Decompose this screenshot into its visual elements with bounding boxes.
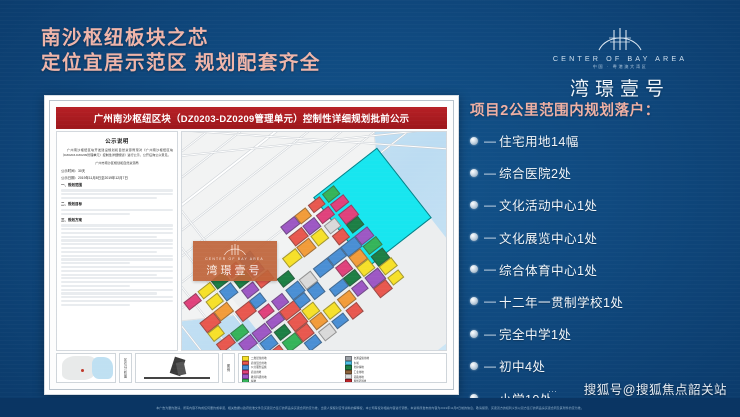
bullet-icon <box>470 330 478 338</box>
text-line <box>61 247 173 249</box>
map-brand-stamp: CENTER OF BAY AREA 湾璟壹号 <box>193 241 277 281</box>
headline-line-2: 定位宜居示范区 规划配套齐全 <box>41 51 321 76</box>
facility-label: 住宅用地14幅 <box>499 131 579 150</box>
text-line <box>61 296 173 298</box>
document-body: 公示说明 广州南沙枢纽区块开发建设规划和自然资源局现对《广州南沙枢纽区块（DZ0… <box>56 131 447 351</box>
legend-row: 绿地 <box>242 379 341 383</box>
brand-english-sub: 中国 · 粤港澳大湾区 <box>532 64 708 70</box>
notice-heading: 公示说明 <box>61 137 173 145</box>
brand-logo: CENTER OF BAY AREA 中国 · 粤港澳大湾区 湾璟壹号 <box>532 24 708 101</box>
watermark-dots: ··· <box>548 386 557 396</box>
brand-chinese: 湾璟壹号 <box>532 74 708 101</box>
headline-line-1: 南沙枢纽板块之芯 <box>41 26 321 51</box>
facility-label: 初中4处 <box>499 356 545 375</box>
scope-inset-map <box>135 353 219 383</box>
text-line <box>61 304 130 306</box>
text-line <box>61 239 173 241</box>
scale-bar <box>144 377 210 379</box>
facility-item: —初中4处 <box>470 356 732 375</box>
notice-duration-label: 公示时间： <box>61 169 78 173</box>
facility-label: 完全中学1处 <box>499 324 571 343</box>
legend-row: 规划范围线 <box>345 379 444 383</box>
inset-caption-1: 区位分析图 <box>119 353 132 383</box>
facility-dash: — <box>484 230 496 244</box>
facility-label: 综合体育中心1处 <box>499 260 597 279</box>
text-line <box>61 300 173 302</box>
text-line <box>61 258 173 260</box>
facility-dash: — <box>484 198 496 212</box>
facilities-heading: 项目2公里范围内规划落户： <box>470 99 732 120</box>
legend-label: 规划范围线 <box>354 379 367 383</box>
bullet-icon <box>470 169 478 177</box>
text-line <box>61 255 173 257</box>
notice-section-3: 三、规划方案 <box>61 218 173 223</box>
text-line <box>61 232 173 234</box>
text-line <box>61 236 157 238</box>
document-title-banner: 广州南沙枢纽区块（DZ0203-DZ0209管理单元）控制性详细规划批前公示 <box>56 107 447 129</box>
text-line <box>61 285 130 287</box>
document-inner-frame: 广州南沙枢纽区块（DZ0203-DZ0209管理单元）控制性详细规划批前公示 公… <box>49 100 454 390</box>
text-line <box>61 274 157 276</box>
notice-paragraph-2: 广州市南沙区规划和自然资源局 <box>61 161 173 166</box>
notice-date: 公示日期：2019年11月8日至2019年12月7日 <box>61 175 173 180</box>
facilities-panel: 项目2公里范围内规划落户： —住宅用地14幅—综合医院2处—文化活动中心1处—文… <box>470 99 732 417</box>
notice-section-2: 二、规划目标 <box>61 202 173 207</box>
text-line <box>61 292 157 294</box>
facility-dash: — <box>484 359 496 373</box>
legend-column: 二类居住用地商住混合用地公共服务设施商业用地教育科研用地绿地 <box>242 356 341 380</box>
bullet-icon <box>470 297 478 305</box>
legend-swatch <box>345 379 352 383</box>
text-line <box>61 289 173 291</box>
text-line <box>61 277 173 279</box>
bullet-icon <box>470 201 478 209</box>
planning-document-card[interactable]: 广州南沙枢纽区块（DZ0203-DZ0209管理单元）控制性详细规划批前公示 公… <box>44 95 459 395</box>
stamp-chinese: 湾璟壹号 <box>207 262 263 278</box>
location-inset-map <box>56 353 116 383</box>
facility-item: —文化活动中心1处 <box>470 195 732 214</box>
text-line <box>61 228 173 230</box>
text-line <box>61 270 173 272</box>
map-legend: 二类居住用地商住混合用地公共服务设施商业用地教育科研用地绿地交通设施用地水域防护… <box>238 353 447 383</box>
facilities-list: —住宅用地14幅—综合医院2处—文化活动中心1处—文化展览中心1处—综合体育中心… <box>470 131 732 417</box>
notice-paragraph-1: 广州南沙枢纽区块开发建设规划和自然资源局现对《广州南沙枢纽区块（DZ0203-D… <box>61 148 173 158</box>
text-line <box>61 189 173 191</box>
legend-swatch <box>242 379 249 383</box>
page-title: 南沙枢纽板块之芯 定位宜居示范区 规划配套齐全 <box>41 26 321 77</box>
text-line <box>61 197 157 199</box>
notice-duration: 公示时间：30天 <box>61 168 173 173</box>
text-line <box>61 224 173 226</box>
text-line <box>61 266 173 268</box>
facility-dash: — <box>484 166 496 180</box>
text-line <box>61 243 173 245</box>
facility-item: —文化展览中心1处 <box>470 228 732 247</box>
text-line <box>61 251 157 253</box>
inset-landmass <box>62 356 96 380</box>
notice-duration-value: 30天 <box>78 169 85 173</box>
facility-item: —住宅用地14幅 <box>470 131 732 150</box>
facility-dash: — <box>484 262 496 276</box>
facility-label: 文化展览中心1处 <box>499 228 597 247</box>
legend-label: 绿地 <box>251 379 256 383</box>
facility-dash: — <box>484 134 496 148</box>
watermark: 搜狐号@搜狐焦点韶关站 <box>584 379 727 398</box>
bridge-icon <box>532 24 708 52</box>
inset-caption-2: 图例 <box>222 353 235 383</box>
brand-english: CENTER OF BAY AREA <box>532 54 708 63</box>
text-line <box>61 193 173 195</box>
facility-label: 文化活动中心1处 <box>499 195 597 214</box>
facility-item: —综合体育中心1处 <box>470 260 732 279</box>
inset-scope-shape-2 <box>176 362 187 376</box>
document-footer-strip: 区位分析图 图例 二类居住用地商住混合用地公共服务设施商业用地教育科研用地绿地交… <box>56 353 447 383</box>
stamp-english: CENTER OF BAY AREA <box>205 257 264 261</box>
facility-item: —综合医院2处 <box>470 163 732 182</box>
slide-canvas: 南沙枢纽板块之芯 定位宜居示范区 规划配套齐全 CENTER OF BAY AR… <box>0 0 740 417</box>
facility-dash: — <box>484 327 496 341</box>
bullet-icon <box>470 362 478 370</box>
notice-date-value: 2019年11月8日至2019年12月7日 <box>78 176 128 180</box>
disclaimer-bar: 本广告为要约邀请，所有内容不构成任何要约或承诺，相关数据以政府批准文件及买卖双方… <box>0 398 740 417</box>
facility-item: —完全中学1处 <box>470 324 732 343</box>
text-line <box>61 262 130 264</box>
legend-column: 交通设施用地水域防护绿地工业用地道路用地规划范围线 <box>345 356 444 380</box>
zoning-map[interactable]: CENTER OF BAY AREA 湾璟壹号 <box>181 131 447 351</box>
notice-section-1: 一、规划范围 <box>61 183 173 188</box>
text-line <box>61 281 173 283</box>
bullet-icon <box>470 265 478 273</box>
facility-item: —十二年一贯制学校1处 <box>470 292 732 311</box>
facility-label: 综合医院2处 <box>499 163 571 182</box>
notice-date-label: 公示日期： <box>61 176 78 180</box>
text-line <box>61 209 173 211</box>
bridge-icon <box>222 244 248 256</box>
disclaimer-text: 本广告为要约邀请，所有内容不构成任何要约或承诺，相关数据以政府批准文件及买卖双方… <box>156 405 583 409</box>
facility-dash: — <box>484 294 496 308</box>
bullet-icon <box>470 233 478 241</box>
bullet-icon <box>470 137 478 145</box>
legend-grid: 二类居住用地商住混合用地公共服务设施商业用地教育科研用地绿地交通设施用地水域防护… <box>242 356 443 380</box>
text-line <box>61 213 130 215</box>
facility-label: 十二年一贯制学校1处 <box>499 292 623 311</box>
inset-water <box>92 357 113 379</box>
public-notice-column: 公示说明 广州南沙枢纽区块开发建设规划和自然资源局现对《广州南沙枢纽区块（DZ0… <box>56 131 178 351</box>
